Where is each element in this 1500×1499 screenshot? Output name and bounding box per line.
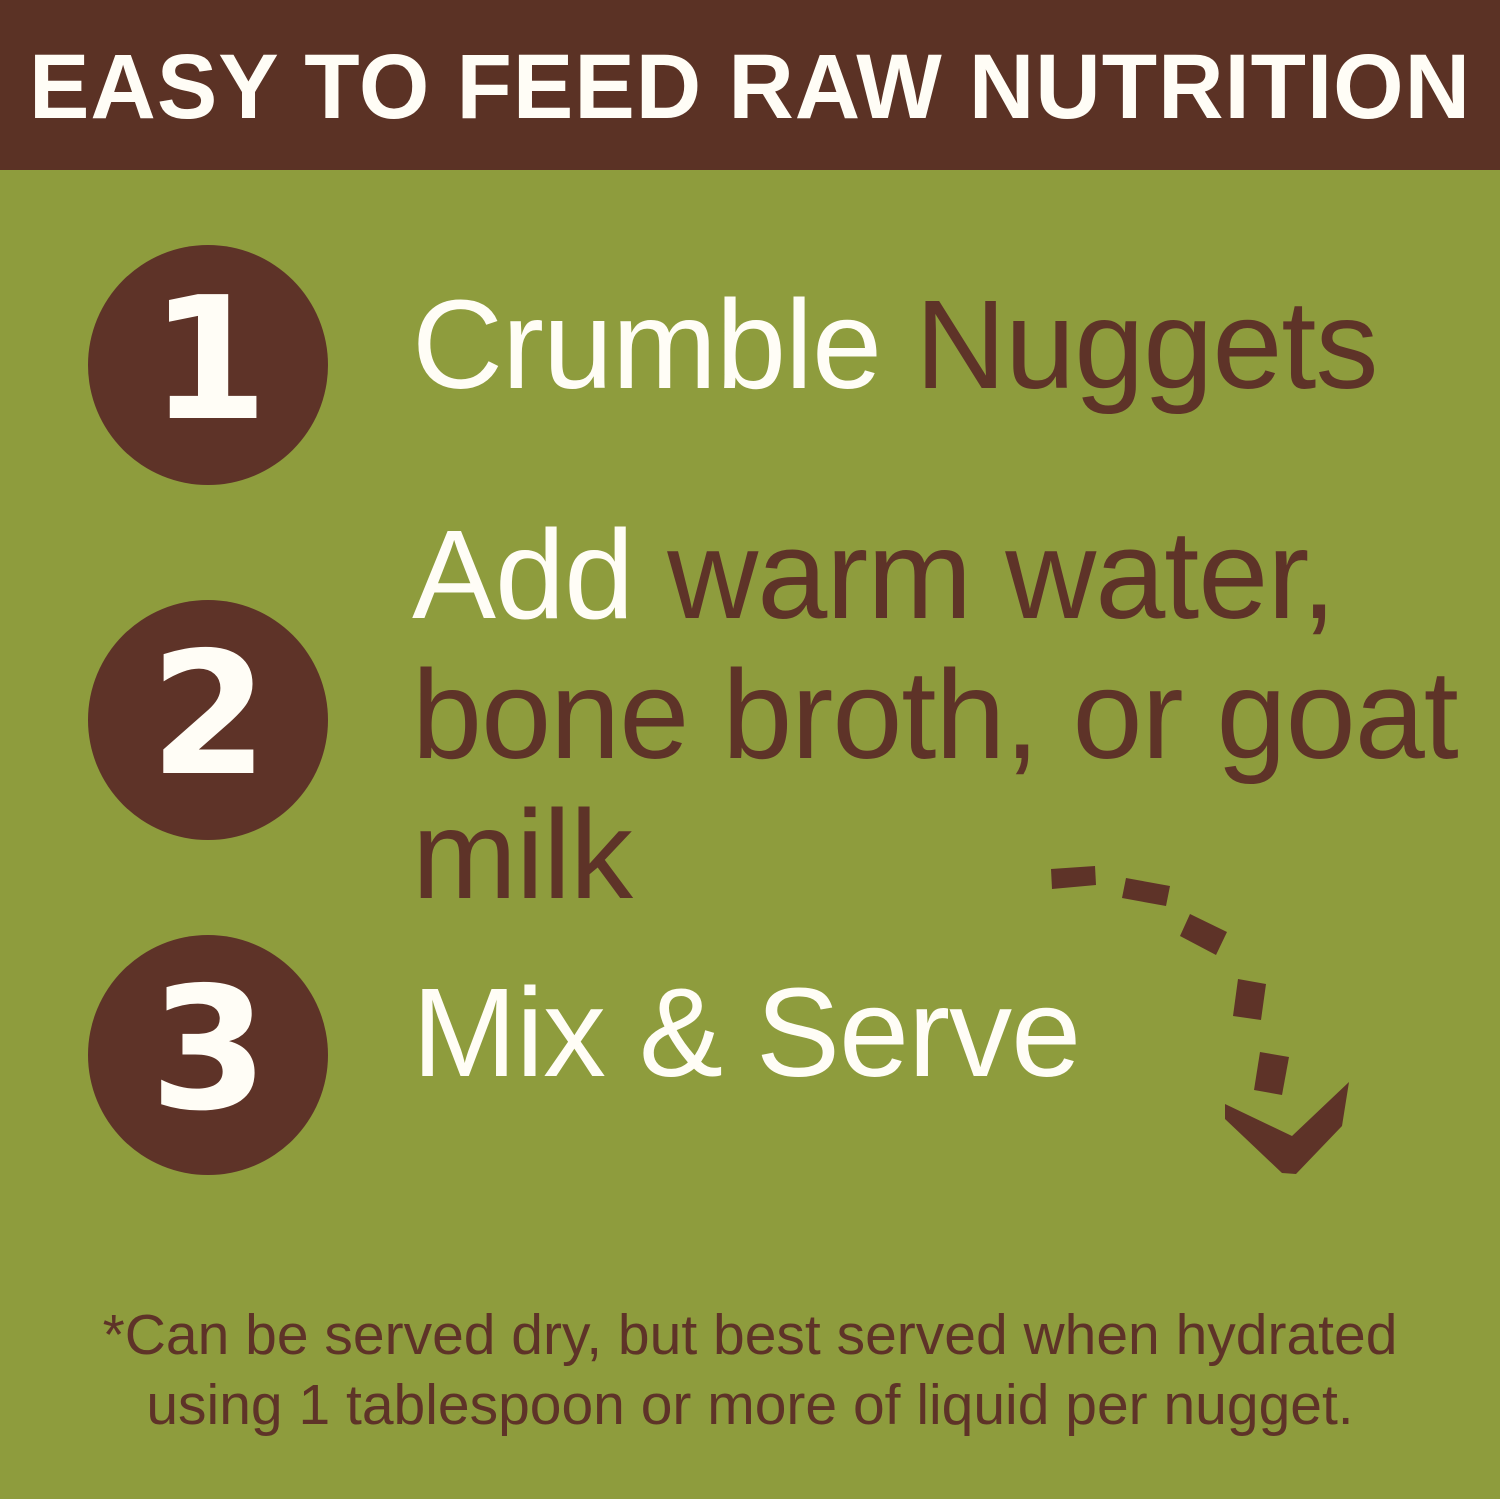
footnote-line-2: using 1 tablespoon or more of liquid per… bbox=[30, 1370, 1470, 1440]
step-number-3: 3 bbox=[150, 965, 266, 1135]
footnote: *Can be served dry, but best served when… bbox=[0, 1300, 1500, 1440]
step-text-1-white: Crumble bbox=[412, 274, 915, 415]
step-text-3-white: Mix & Serve bbox=[412, 962, 1080, 1103]
step-number-badge-1: 1 bbox=[88, 245, 328, 485]
footnote-line-1: *Can be served dry, but best served when… bbox=[30, 1300, 1470, 1370]
step-item-3: 3 Mix & Serve bbox=[0, 935, 1500, 1175]
step-number-2: 2 bbox=[150, 630, 266, 800]
step-number-badge-3: 3 bbox=[88, 935, 328, 1175]
step-text-1: Crumble Nuggets bbox=[412, 275, 1460, 415]
step-text-2-white: Add bbox=[412, 504, 667, 645]
step-text-3: Mix & Serve bbox=[412, 963, 1460, 1103]
infographic-page: EASY TO FEED RAW NUTRITION 1 Crumble Nug… bbox=[0, 0, 1500, 1499]
step-item-2: 2 Add warm water, bone broth, or goat mi… bbox=[0, 525, 1500, 915]
step-number-1: 1 bbox=[150, 275, 266, 445]
steps-list: 1 Crumble Nuggets 2 Add warm water, bone… bbox=[0, 170, 1500, 1260]
header-banner: EASY TO FEED RAW NUTRITION bbox=[0, 0, 1500, 170]
step-text-1-brown: Nuggets bbox=[915, 274, 1377, 415]
page-title: EASY TO FEED RAW NUTRITION bbox=[29, 41, 1471, 133]
step-item-1: 1 Crumble Nuggets bbox=[0, 245, 1500, 485]
step-text-2: Add warm water, bone broth, or goat milk bbox=[412, 505, 1460, 925]
step-number-badge-2: 2 bbox=[88, 600, 328, 840]
